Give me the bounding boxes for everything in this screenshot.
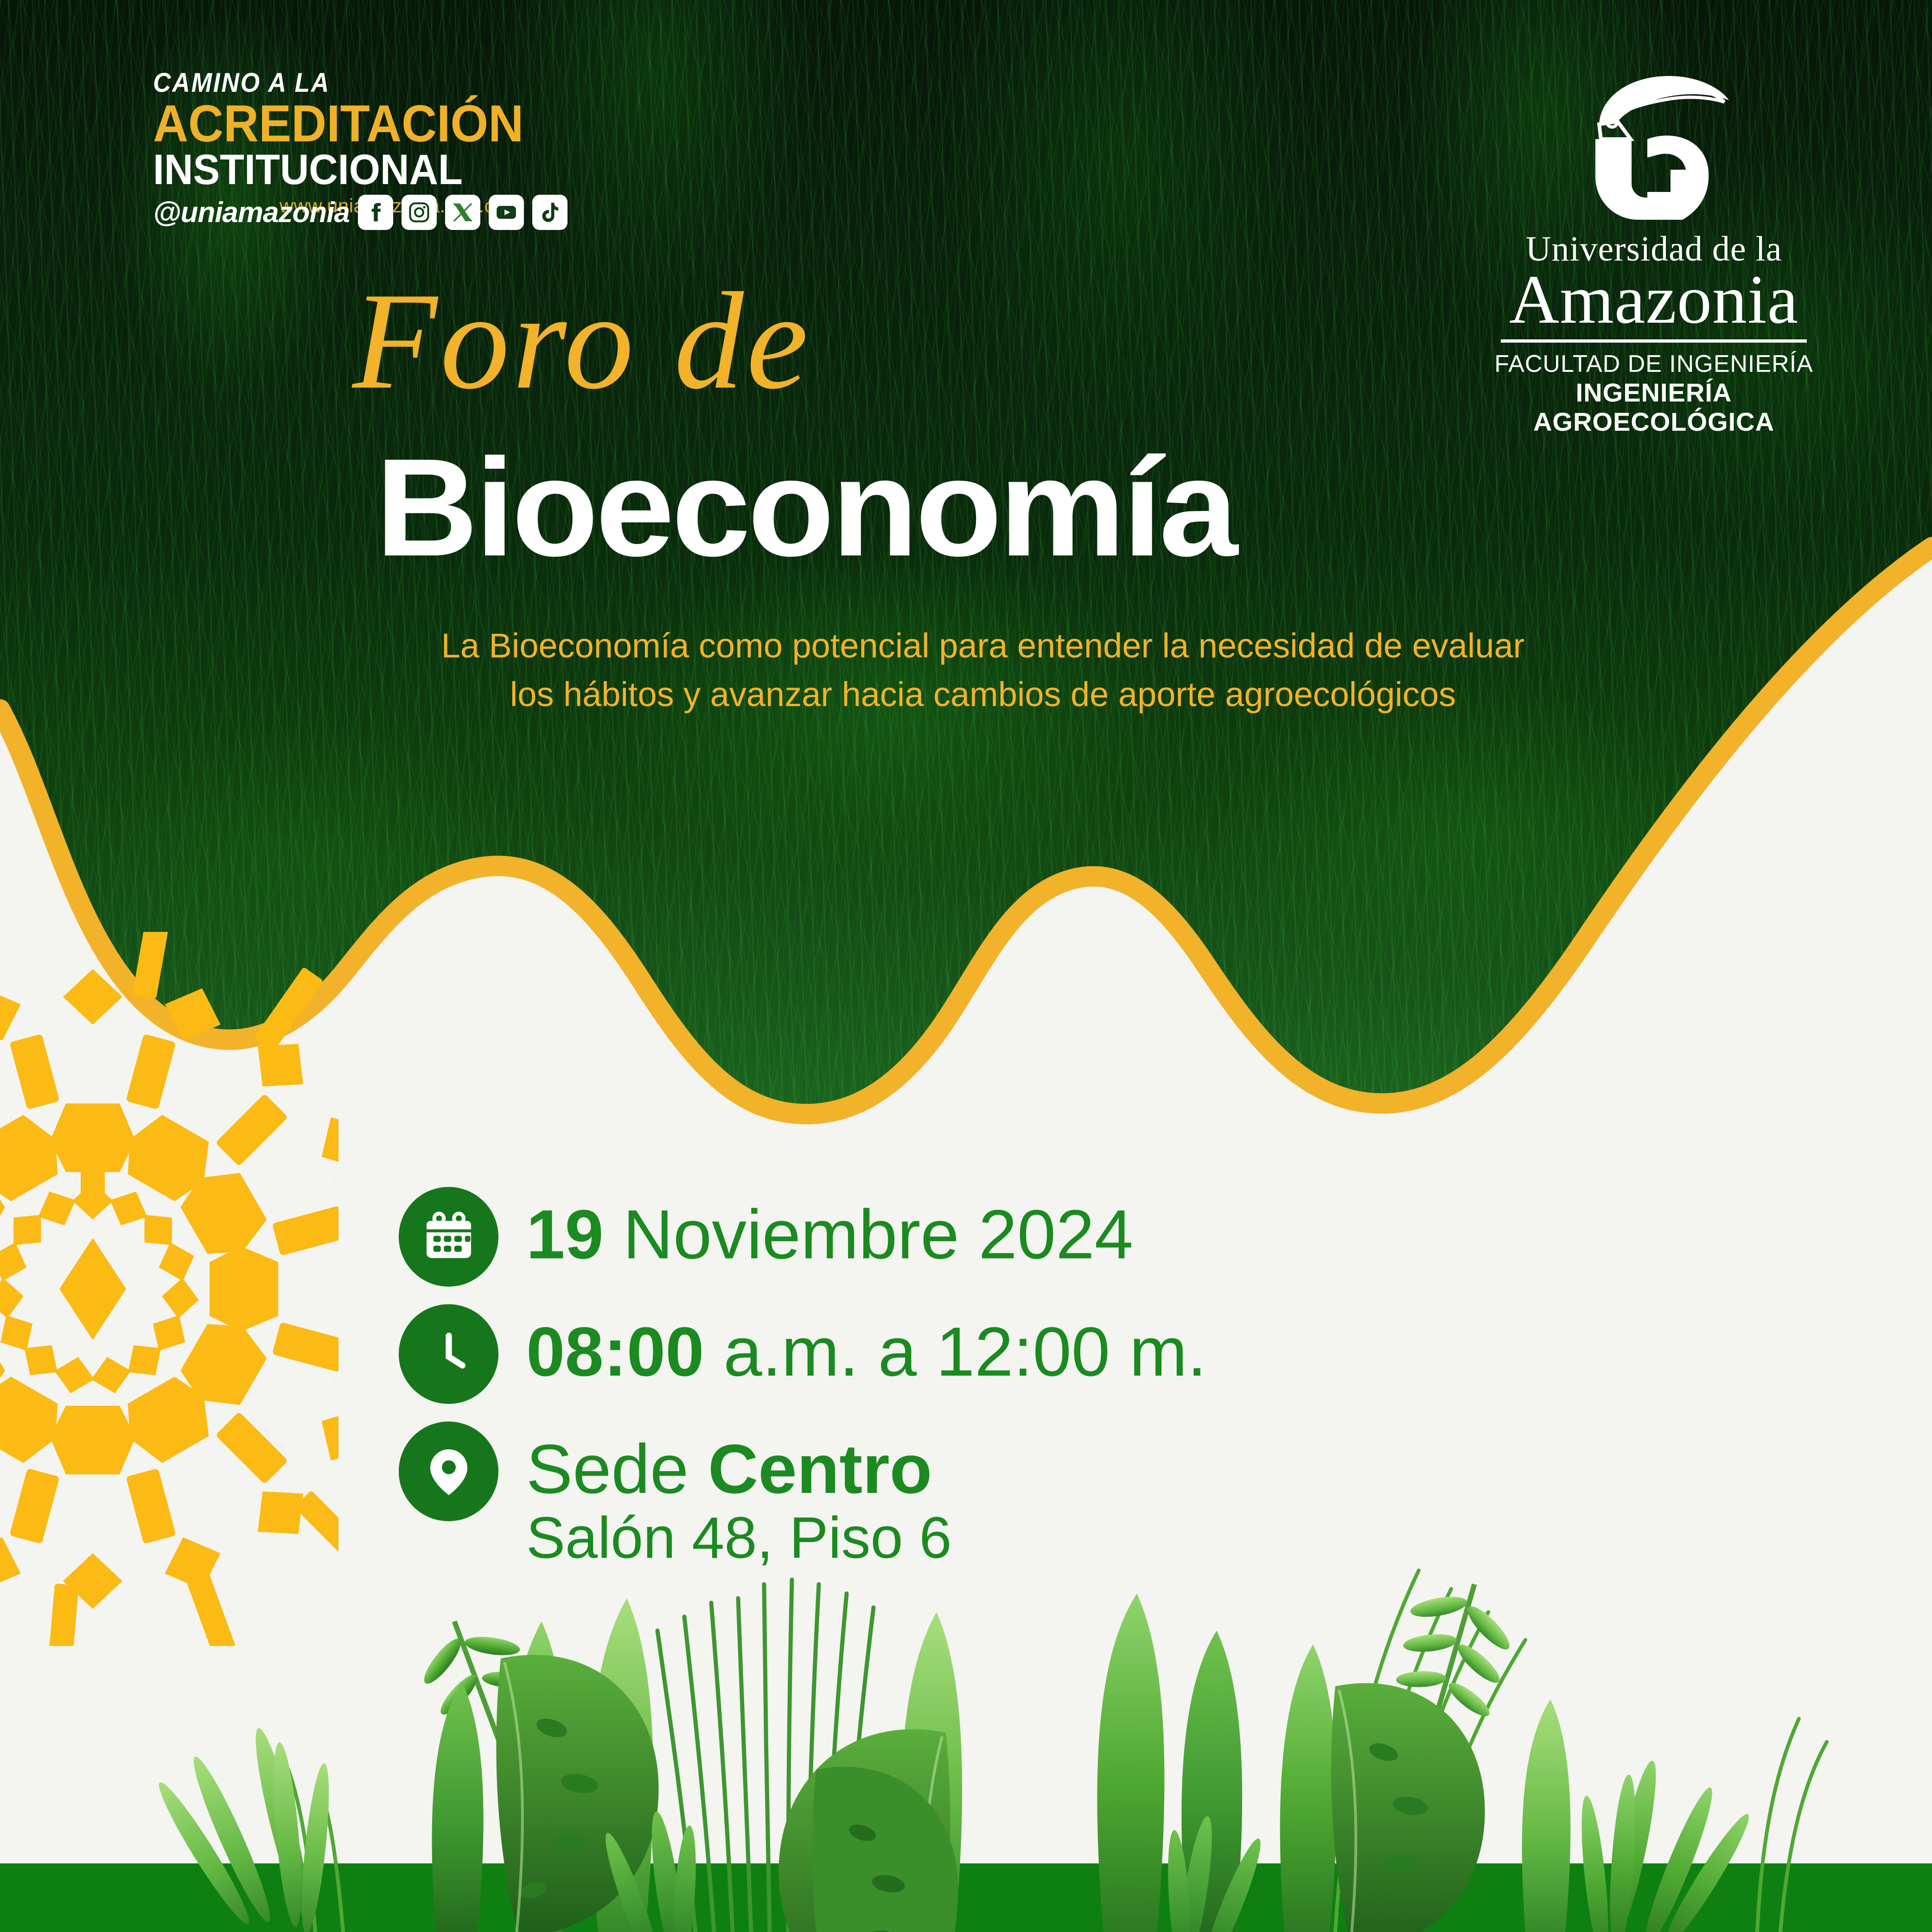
clock-icon [399, 1304, 498, 1404]
subtitle-line2: los hábitos y avanzar hacia cambios de a… [371, 670, 1595, 719]
event-day: 19 [526, 1195, 604, 1273]
university-logo-block: Universidad de la Amazonia FACULTAD DE I… [1478, 70, 1830, 436]
accreditation-line2: ACREDITACIÓN [153, 97, 523, 150]
venue-prefix: Sede [526, 1430, 708, 1508]
location-pin-icon [399, 1422, 498, 1521]
event-month-year: Noviembre 2024 [604, 1195, 1133, 1273]
faculty-name: FACULTAD DE INGENIERÍA [1478, 350, 1830, 378]
youtube-icon[interactable] [489, 195, 524, 230]
tiktok-icon[interactable] [532, 195, 567, 230]
x-twitter-icon[interactable] [445, 195, 480, 230]
event-date-row: 19 Noviembre 2024 [399, 1187, 1207, 1287]
event-start-time: 08:00 [526, 1313, 704, 1390]
subtitle-line1: La Bioeconomía como potencial para enten… [371, 621, 1595, 670]
event-poster: CAMINO A LA ACREDITACIÓN INSTITUCIONAL w… [0, 0, 1932, 1932]
title-script: Foro de [352, 278, 811, 403]
program-name-line2: AGROECOLÓGICA [1478, 408, 1830, 437]
social-row: @uniamazonia [153, 195, 567, 230]
logo-divider [1501, 339, 1807, 343]
social-handle: @uniamazonia [153, 196, 350, 229]
calendar-icon [399, 1187, 498, 1287]
title-main: Bioeconomía [376, 440, 1235, 574]
venue-detail: Salón 48, Piso 6 [526, 1506, 952, 1569]
instagram-icon[interactable] [402, 195, 437, 230]
university-name-main: Amazonia [1478, 267, 1830, 333]
venue-name: Centro [708, 1430, 932, 1508]
event-details: 19 Noviembre 2024 08:00 a.m. a 12:00 m. [399, 1187, 1207, 1587]
toucan-ua-monogram-icon [1556, 70, 1751, 223]
subtitle: La Bioeconomía como potencial para enten… [371, 621, 1595, 719]
accreditation-line1: CAMINO A LA [153, 70, 516, 96]
accreditation-line3: INSTITUCIONAL [153, 148, 523, 192]
event-place-row: Sede Centro Salón 48, Piso 6 [399, 1422, 1207, 1569]
program-name-line1: INGENIERÍA [1478, 378, 1830, 408]
event-time-row: 08:00 a.m. a 12:00 m. [399, 1304, 1207, 1404]
facebook-icon[interactable] [358, 195, 393, 230]
event-time-rest: a.m. a 12:00 m. [704, 1313, 1207, 1390]
